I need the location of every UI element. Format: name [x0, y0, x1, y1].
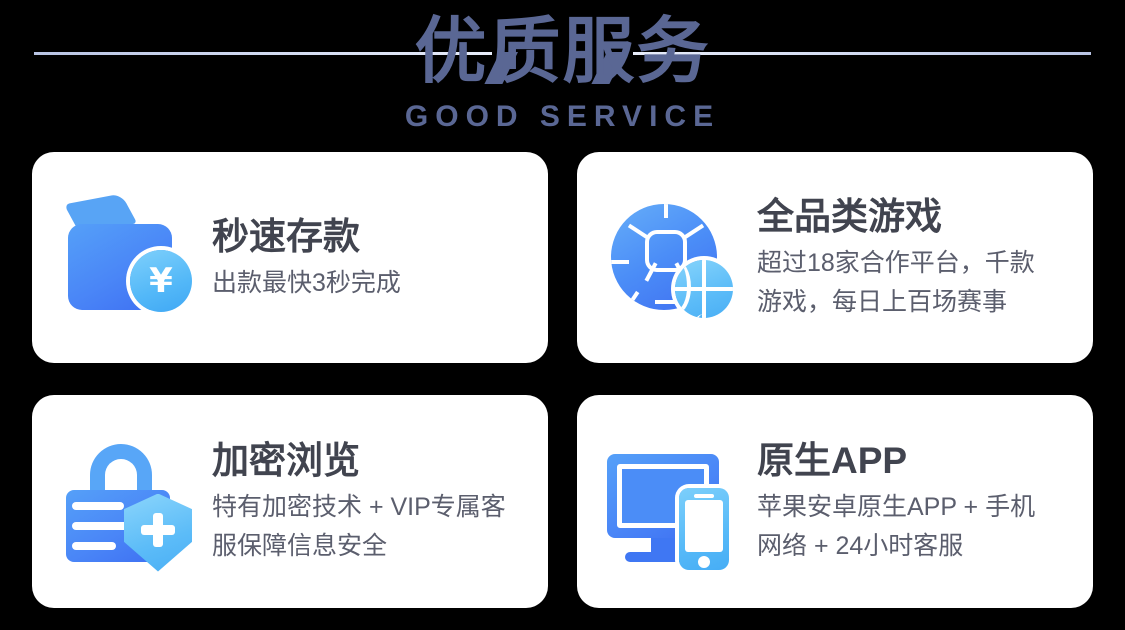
yen-coin-icon: ¥ — [130, 250, 192, 312]
feature-card-text: 秒速存款 出款最快3秒完成 — [198, 214, 528, 302]
feature-card-desc-line: 特有加密技术 + VIP专属客 — [212, 488, 528, 527]
feature-card-desc-line: 服保障信息安全 — [212, 527, 528, 566]
basketball-icon — [675, 260, 733, 318]
feature-card-games[interactable]: 全品类游戏 超过18家合作平台，千款 游戏，每日上百场赛事 — [577, 152, 1093, 363]
page-title: 优质服务 — [0, 8, 1125, 94]
feature-card-desc-line: 超过18家合作平台，千款 — [757, 244, 1073, 283]
page-header: 优质服务 GOOD SERVICE — [0, 0, 1125, 150]
monitor-phone-icon — [603, 432, 743, 572]
feature-card-deposit[interactable]: ¥ 秒速存款 出款最快3秒完成 — [32, 152, 548, 363]
feature-card-text: 原生APP 苹果安卓原生APP + 手机 网络 + 24小时客服 — [743, 438, 1073, 566]
feature-card-desc-line: 苹果安卓原生APP + 手机 — [757, 488, 1073, 527]
feature-card-text: 全品类游戏 超过18家合作平台，千款 游戏，每日上百场赛事 — [743, 194, 1073, 322]
page-subtitle: GOOD SERVICE — [0, 100, 1125, 134]
soccer-basketball-icon — [603, 188, 743, 328]
feature-card-desc-line: 游戏，每日上百场赛事 — [757, 283, 1073, 322]
feature-card-encryption[interactable]: 加密浏览 特有加密技术 + VIP专属客 服保障信息安全 — [32, 395, 548, 608]
lock-shield-icon — [58, 432, 198, 572]
feature-card-title: 全品类游戏 — [757, 194, 1073, 240]
feature-card-title: 加密浏览 — [212, 438, 528, 484]
promo-page: 优质服务 GOOD SERVICE ¥ 秒速存款 出款最快3秒完成 — [0, 0, 1125, 630]
feature-card-desc-line: 出款最快3秒完成 — [212, 264, 528, 302]
feature-card-native-app[interactable]: 原生APP 苹果安卓原生APP + 手机 网络 + 24小时客服 — [577, 395, 1093, 608]
feature-card-text: 加密浏览 特有加密技术 + VIP专属客 服保障信息安全 — [198, 438, 528, 566]
feature-card-title: 秒速存款 — [212, 214, 528, 260]
feature-card-grid: ¥ 秒速存款 出款最快3秒完成 — [32, 152, 1093, 608]
feature-card-desc-line: 网络 + 24小时客服 — [757, 527, 1073, 566]
wallet-yen-icon: ¥ — [58, 188, 198, 328]
yen-symbol: ¥ — [149, 264, 173, 298]
feature-card-title: 原生APP — [757, 438, 1073, 484]
